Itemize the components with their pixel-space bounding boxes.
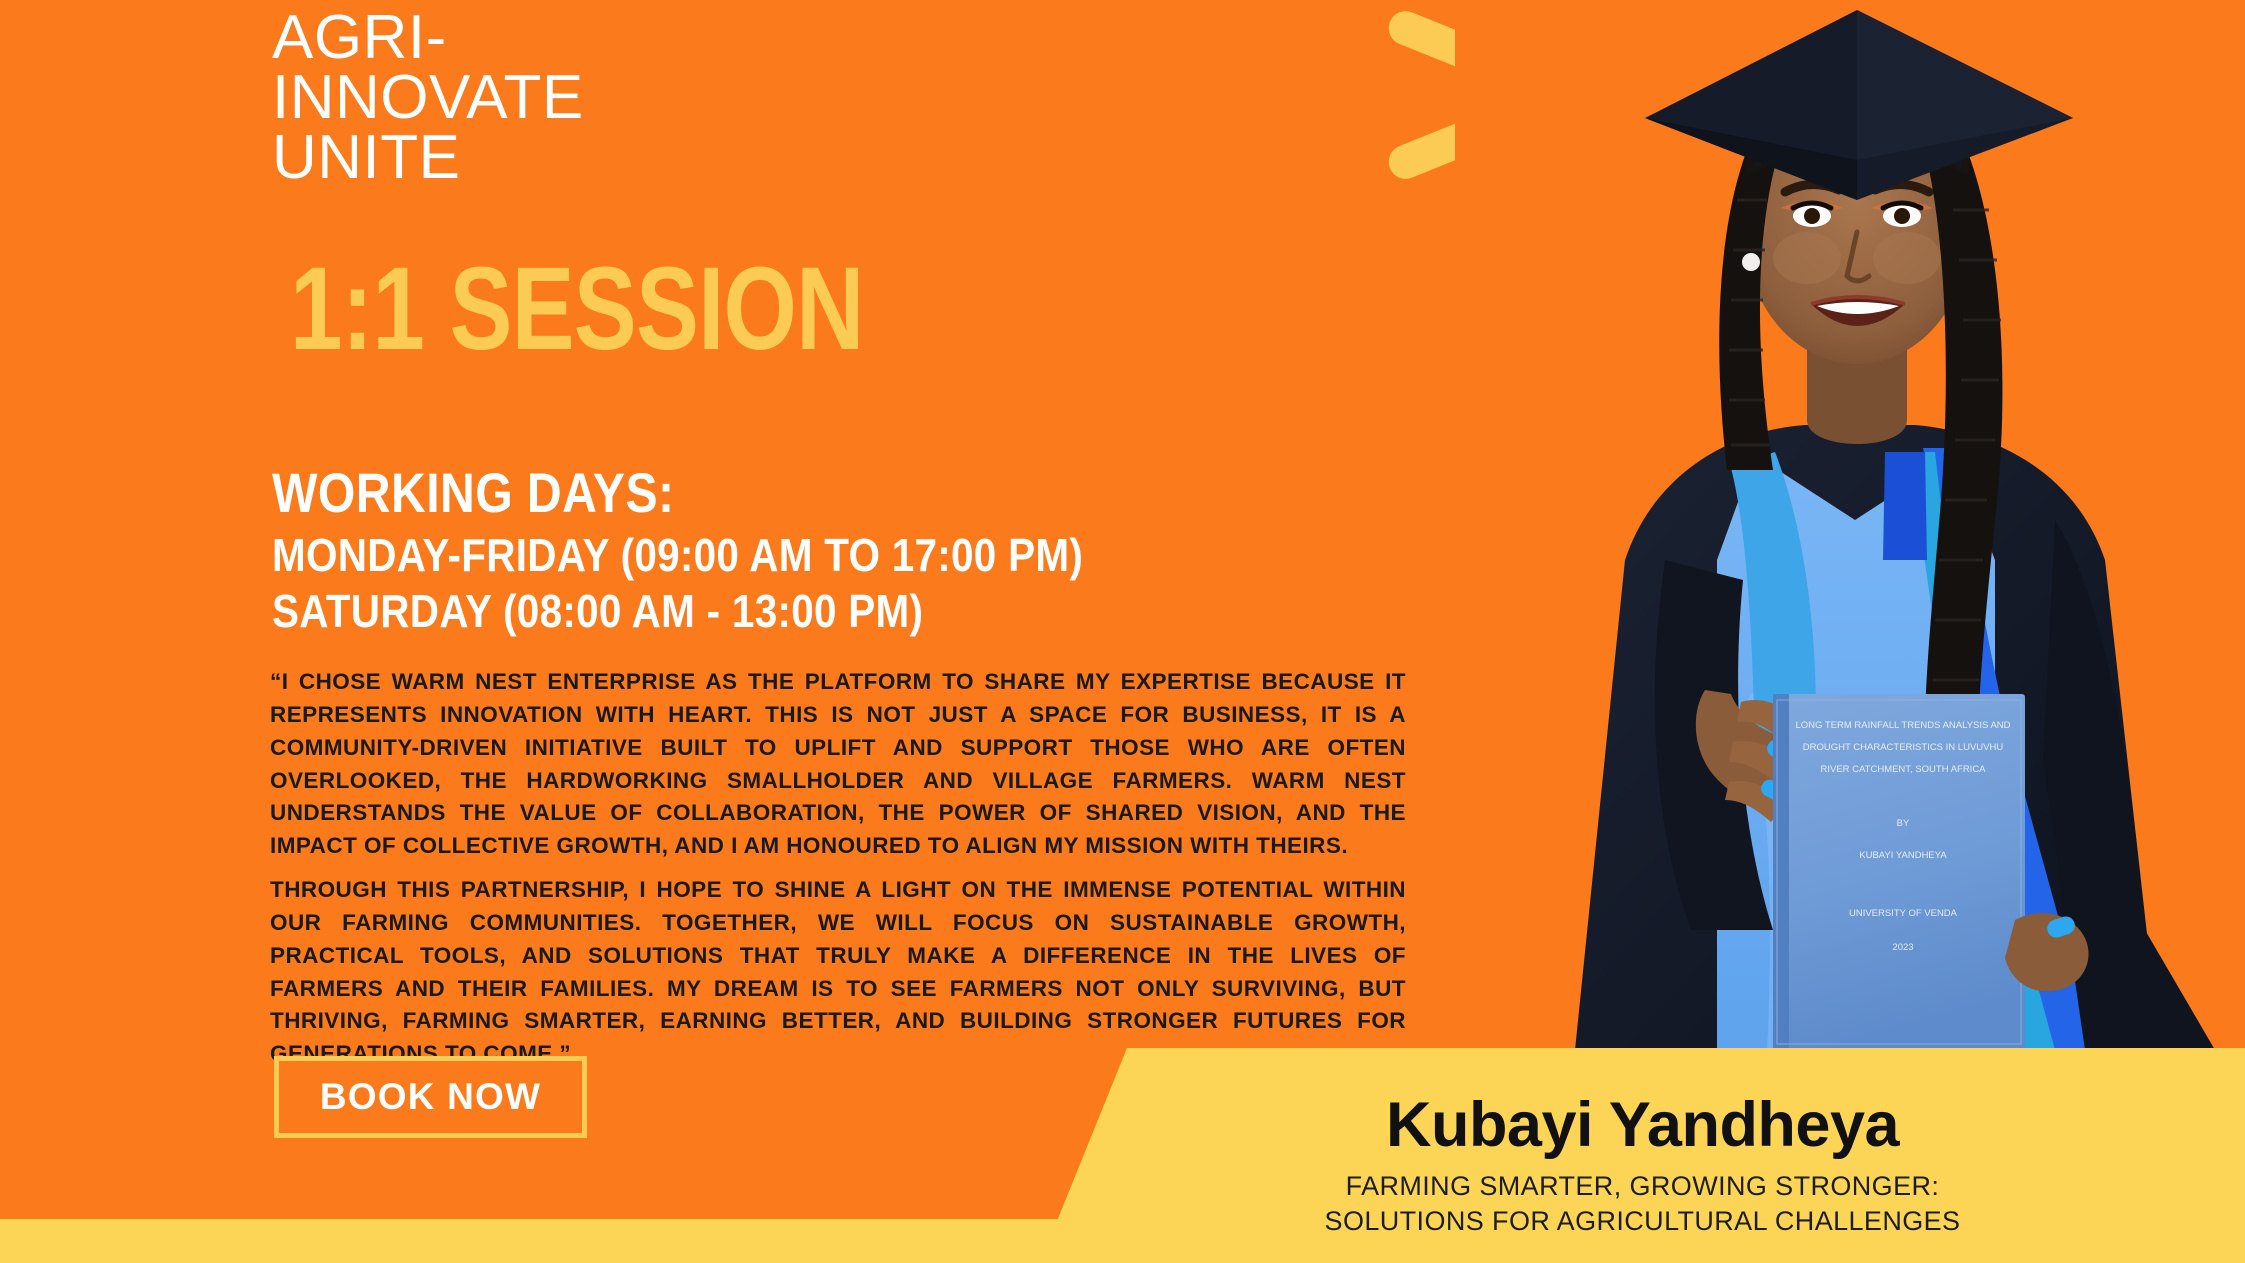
thesis-title-line2: DROUGHT CHARACTERISTICS IN LUVUVHU — [1803, 742, 2004, 753]
thesis-book: LONG TERM RAINFALL TRENDS ANALYSIS AND D… — [1773, 694, 2025, 1050]
working-days-heading: WORKING DAYS: — [272, 460, 674, 525]
speaker-tagline: FARMING SMARTER, GROWING STRONGER: SOLUT… — [1040, 1169, 2245, 1240]
speaker-photo: LONG TERM RAINFALL TRENDS ANALYSIS AND D… — [1455, 0, 2245, 1050]
book-now-label: BOOK NOW — [320, 1076, 541, 1118]
quote-paragraph-1: “I CHOSE WARM NEST ENTERPRISE AS THE PLA… — [270, 666, 1406, 863]
kicker-line-2: INNOVATE — [272, 68, 584, 128]
kicker-line-3: UNITE — [272, 128, 584, 188]
book-now-button[interactable]: BOOK NOW — [274, 1056, 587, 1138]
quote-paragraph-2: THROUGH THIS PARTNERSHIP, I HOPE TO SHIN… — [270, 874, 1406, 1071]
page-title: 1:1 SESSION — [290, 250, 864, 368]
thesis-institution: UNIVERSITY OF VENDA — [1849, 908, 1958, 919]
promo-flyer: LONG TERM RAINFALL TRENDS ANALYSIS AND D… — [0, 0, 2245, 1263]
thesis-author: KUBAYI YANDHEYA — [1859, 850, 1947, 861]
speaker-tagline-line-2: SOLUTIONS FOR AGRICULTURAL CHALLENGES — [1040, 1204, 2245, 1240]
thesis-title-line3: RIVER CATCHMENT, SOUTH AFRICA — [1820, 764, 1986, 775]
speaker-name-panel: Kubayi Yandheya FARMING SMARTER, GROWING… — [1040, 1048, 2245, 1263]
hours-saturday: SATURDAY (08:00 AM - 13:00 PM) — [272, 583, 1083, 639]
thesis-year: 2023 — [1892, 942, 1913, 953]
thesis-title-line1: LONG TERM RAINFALL TRENDS ANALYSIS AND — [1795, 720, 2010, 731]
working-days-hours: MONDAY-FRIDAY (09:00 AM TO 17:00 PM) SAT… — [272, 527, 1083, 639]
page-kicker: AGRI- INNOVATE UNITE — [272, 8, 584, 188]
portrait-illustration: LONG TERM RAINFALL TRENDS ANALYSIS AND D… — [1455, 0, 2245, 1050]
speaker-name: Kubayi Yandheya — [1040, 1092, 2245, 1159]
graduate-portrait-image: LONG TERM RAINFALL TRENDS ANALYSIS AND D… — [1455, 0, 2245, 1050]
hours-weekday: MONDAY-FRIDAY (09:00 AM TO 17:00 PM) — [272, 527, 1083, 583]
speaker-tagline-line-1: FARMING SMARTER, GROWING STRONGER: — [1040, 1169, 2245, 1205]
thesis-by-label: BY — [1897, 818, 1910, 829]
kicker-line-1: AGRI- — [272, 8, 584, 68]
